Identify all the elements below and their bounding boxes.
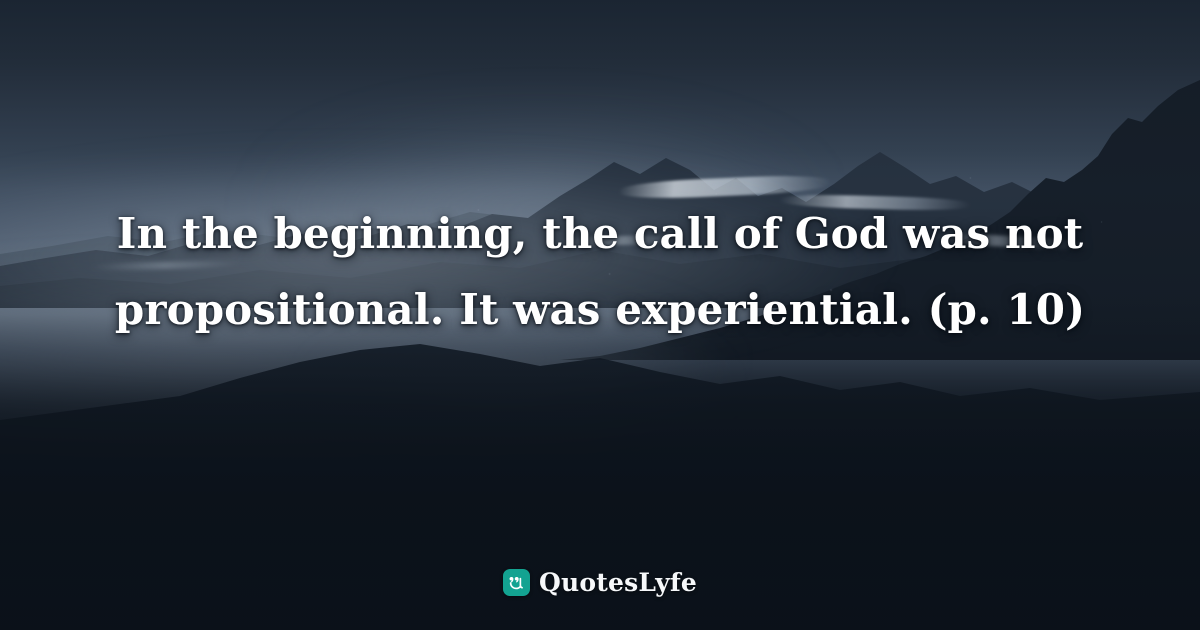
quote-text: In the beginning, the call of God was no… bbox=[90, 196, 1110, 348]
quote-block: In the beginning, the call of God was no… bbox=[0, 196, 1200, 348]
brand-name: QuotesLyfe bbox=[539, 570, 697, 595]
quote-card: In the beginning, the call of God was no… bbox=[0, 0, 1200, 630]
brand-logo[interactable]: QuotesLyfe bbox=[0, 569, 1200, 596]
quote-smiley-logo-icon bbox=[503, 569, 530, 596]
